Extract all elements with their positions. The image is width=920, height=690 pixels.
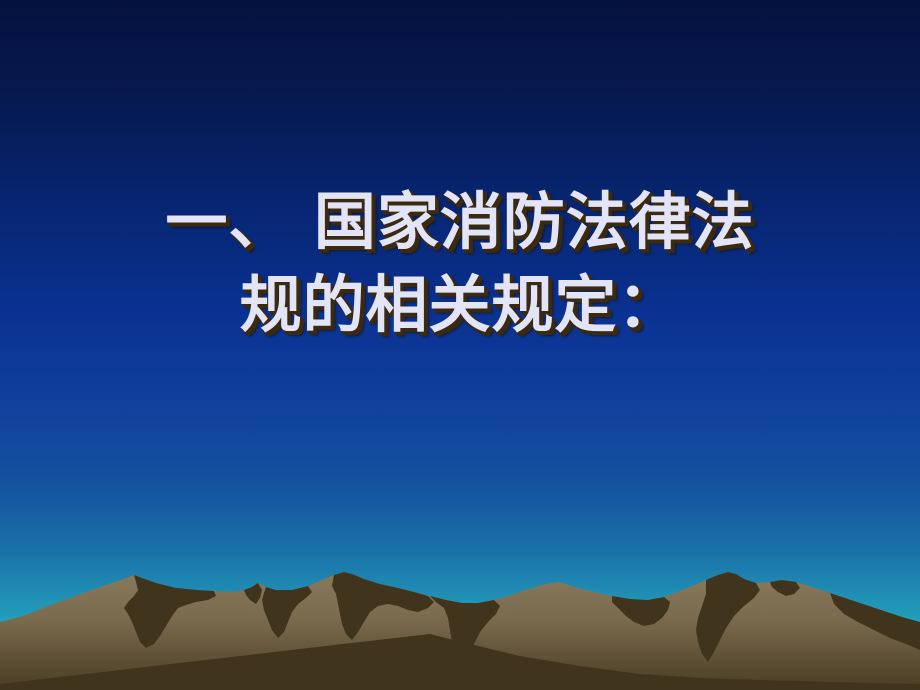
slide-title: 一、 国家消防法律法 规的相关规定： — [0, 186, 920, 341]
slide-canvas: 一、 国家消防法律法 规的相关规定： — [0, 0, 920, 690]
title-line-2: 规的相关规定： — [0, 269, 920, 342]
mountain-range-silhouette — [0, 570, 920, 690]
title-line-1: 一、 国家消防法律法 — [0, 186, 920, 259]
